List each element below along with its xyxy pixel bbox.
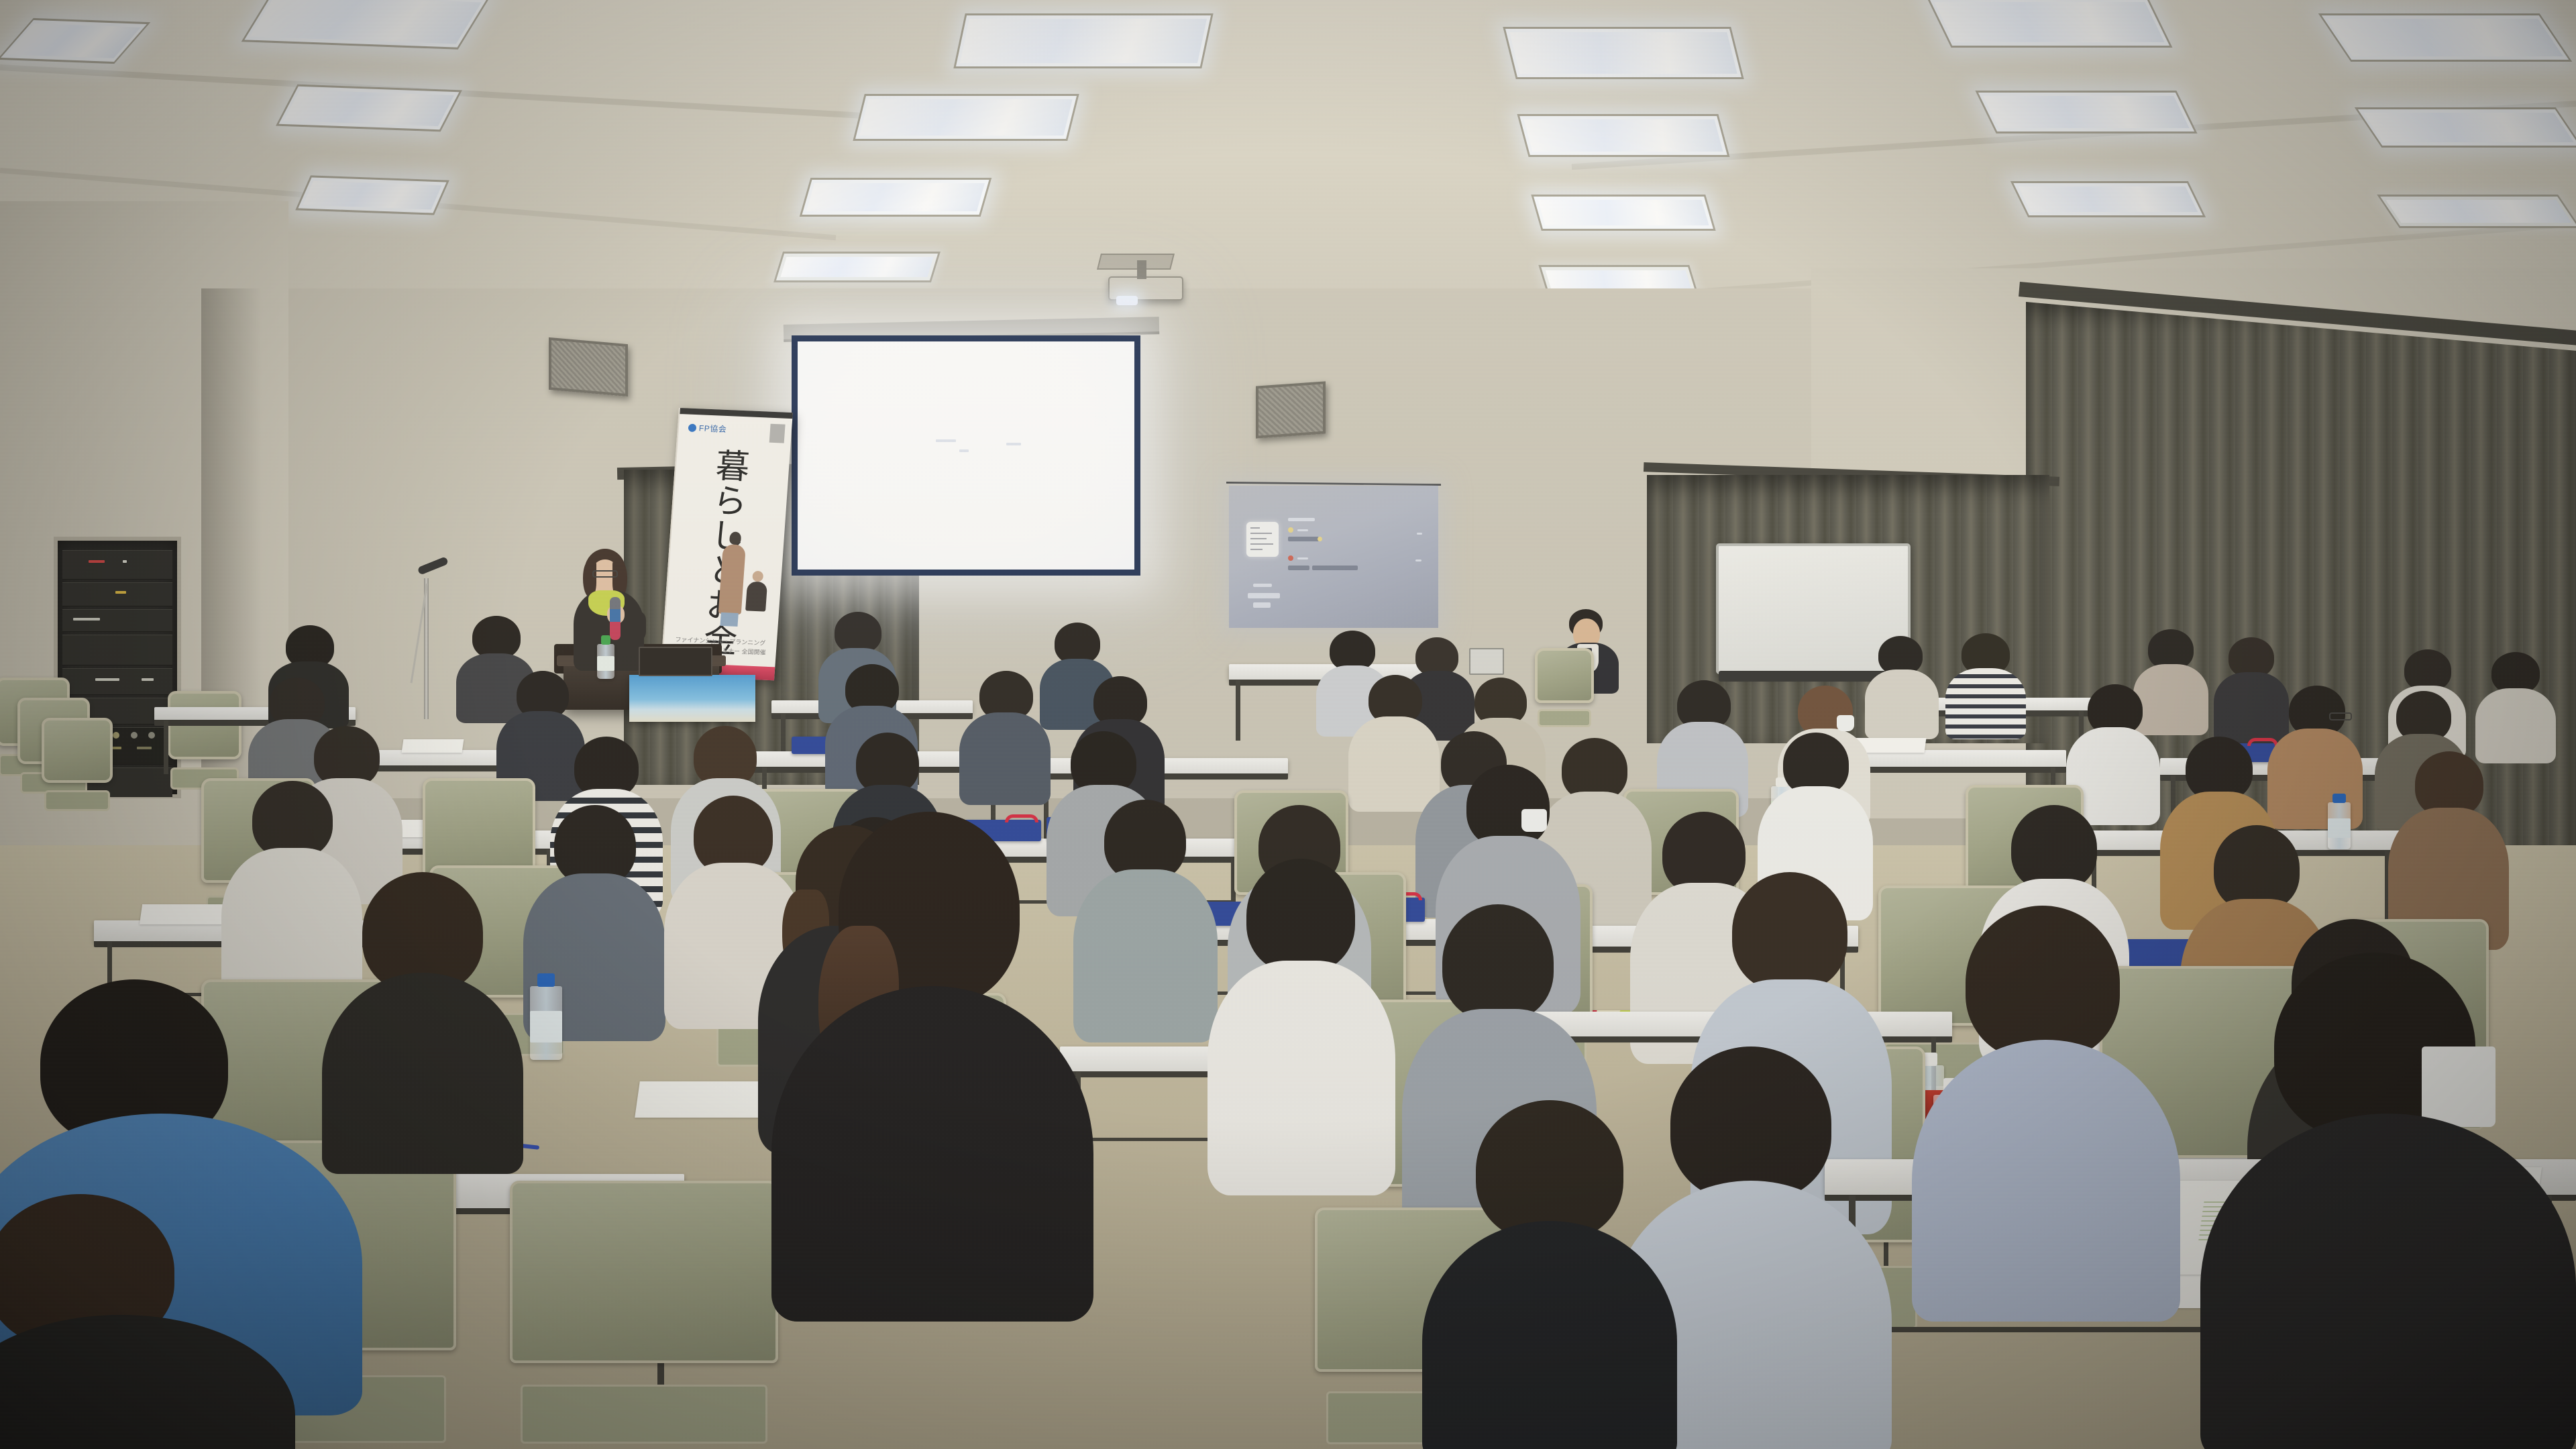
laptop-lid	[639, 647, 712, 676]
attendee-hair	[1330, 631, 1375, 671]
handout-paper	[402, 739, 464, 753]
face-mask	[1521, 809, 1547, 832]
lectern-front-panel	[629, 675, 755, 722]
second-projection-screen	[1229, 486, 1438, 628]
chair-seat	[44, 790, 110, 811]
slide-heading	[1288, 518, 1315, 521]
water-bottle	[530, 986, 562, 1060]
chair	[510, 1181, 778, 1449]
attendee	[322, 872, 523, 1154]
attendee	[1207, 859, 1395, 1181]
slide-faint-text	[959, 449, 969, 452]
bottle-cap	[601, 635, 611, 645]
chair-seat	[521, 1385, 767, 1444]
ceiling-light	[2010, 181, 2206, 217]
attendee-hair	[835, 612, 881, 653]
projector-ceiling-recess	[1097, 254, 1175, 270]
attendee-shoulders	[1422, 1221, 1677, 1449]
roll-up-banner: FP協会 暮 ら し と お 金 ファイナンシャル・プランニング くらしとお金の…	[660, 408, 793, 680]
bottle-label	[597, 656, 614, 671]
bottle-label	[530, 1011, 562, 1042]
rack-unit	[62, 635, 172, 665]
bottle-cap	[2332, 794, 2345, 803]
ceiling-light	[773, 252, 941, 282]
status-led	[137, 747, 152, 749]
attendee	[2475, 652, 2556, 759]
wall-speaker-right	[1256, 381, 1326, 438]
banner-figure-adult	[718, 544, 746, 614]
attendee	[1422, 1100, 1677, 1449]
stacked-chairs	[42, 718, 113, 813]
slide-line	[1253, 584, 1272, 587]
attendee	[1073, 800, 1218, 1034]
chair-back	[42, 718, 113, 783]
status-led	[73, 618, 100, 621]
seminar-room-photograph: FP協会 暮 ら し と お 金 ファイナンシャル・プランニング くらしとお金の…	[0, 0, 2576, 1449]
presenter-laptop	[639, 647, 712, 676]
attendee	[1865, 636, 1939, 734]
attendee-hair	[2011, 805, 2097, 891]
attendee-shoulders	[771, 986, 1093, 1322]
ceiling-light	[1531, 195, 1715, 231]
banner-figure-child	[745, 582, 767, 612]
slide-bullet-dot	[1318, 537, 1322, 541]
presenter-glasses	[592, 570, 618, 578]
attendee-hair	[1732, 872, 1847, 991]
attendee-black-top	[771, 812, 1093, 1308]
status-led	[89, 560, 105, 563]
wall-speaker-left	[549, 337, 628, 396]
attendee-hair	[2404, 649, 2451, 691]
attendee-torso	[1865, 669, 1939, 739]
attendee-hair	[2148, 629, 2194, 669]
mixer-knob	[148, 732, 155, 739]
mixer-knob	[131, 732, 138, 739]
attendee-glasses	[2329, 712, 2352, 720]
microphone-stand	[424, 578, 429, 719]
slide-bullet-dot	[1288, 527, 1293, 533]
projector-lens	[1116, 296, 1138, 305]
projector-mount	[1137, 260, 1146, 279]
handout-paper	[635, 1081, 774, 1118]
slide-line	[1417, 533, 1422, 535]
slide-line	[1248, 593, 1280, 598]
status-led	[123, 560, 127, 563]
ceiling-light	[1975, 91, 2197, 133]
slide-line	[1297, 557, 1308, 559]
banner-corner-mark	[769, 424, 786, 443]
attendee-hair	[1670, 1046, 1831, 1201]
attendee-striped-top	[1945, 668, 2026, 739]
banner-title-char: 暮	[714, 448, 751, 484]
attendee-hair	[2214, 825, 2300, 911]
attendee	[1945, 633, 2026, 734]
face-mask	[1837, 715, 1854, 731]
table-leg	[164, 720, 168, 774]
status-led	[95, 678, 119, 681]
attendee-hair	[2491, 652, 2540, 694]
slide-line	[1288, 537, 1319, 541]
slide-line	[1288, 566, 1309, 570]
projection-screen	[792, 335, 1140, 576]
attendee-hair	[472, 616, 521, 659]
attendee-shoulders	[322, 973, 523, 1174]
slide-line	[1297, 529, 1308, 531]
attendee-torso	[1073, 869, 1218, 1042]
chair-back	[510, 1181, 778, 1363]
slide-bullet-dot	[1288, 555, 1293, 561]
attendee	[1912, 906, 2180, 1308]
ceiling-projector	[1108, 276, 1183, 301]
attendee	[2388, 751, 2509, 946]
attendee-hair	[1246, 859, 1355, 973]
slide-faint-text	[936, 439, 956, 442]
attendee-hair	[1966, 906, 2120, 1060]
attendee	[959, 671, 1051, 802]
presenter-water-bottle	[597, 644, 614, 679]
attendee-hair	[1476, 1100, 1623, 1241]
attendee-masked	[2200, 953, 2576, 1449]
bottle-cap	[537, 973, 555, 987]
status-led	[115, 591, 126, 594]
attendee-hair	[1055, 623, 1100, 664]
slide-line	[1415, 559, 1421, 561]
handheld-microphone-icon	[610, 597, 621, 640]
ceiling-light	[2377, 195, 2576, 228]
face-mask	[2422, 1046, 2495, 1127]
stacked-chairs	[168, 691, 241, 792]
table-leg	[1236, 680, 1240, 741]
slide-image-card	[1246, 522, 1279, 557]
presenter-arm	[626, 612, 646, 640]
attendee-shoulders	[1912, 1040, 2180, 1322]
ceiling-light	[276, 85, 462, 132]
attendee-torso	[1207, 961, 1395, 1195]
attendee-shoulders	[2200, 1114, 2576, 1449]
attendee-shoulders	[0, 1315, 295, 1449]
rack-unit	[62, 668, 172, 695]
ceiling-light	[1503, 27, 1743, 79]
attendee-hair	[2229, 637, 2274, 678]
attendee-hair	[252, 781, 333, 859]
ceiling-light	[1517, 114, 1729, 157]
banner-logo: FP協会	[688, 422, 727, 435]
banner-illustration	[714, 528, 773, 616]
attendee	[0, 1194, 295, 1449]
status-led	[142, 678, 154, 681]
ceiling-light	[853, 94, 1079, 141]
banner-title-char: ら	[712, 483, 749, 519]
slide-line	[1253, 602, 1271, 608]
mixer-knob	[113, 732, 119, 739]
ceiling-light	[2355, 107, 2576, 148]
rack-unit	[62, 582, 172, 606]
attendee-torso	[959, 712, 1051, 805]
ceiling-light	[800, 178, 992, 217]
rack-unit	[62, 609, 172, 632]
attendee-hair	[1442, 904, 1554, 1021]
slide-line	[1312, 566, 1358, 570]
rack-unit	[62, 550, 172, 580]
ceiling-light	[295, 175, 449, 215]
slide-faint-text	[1006, 443, 1021, 445]
